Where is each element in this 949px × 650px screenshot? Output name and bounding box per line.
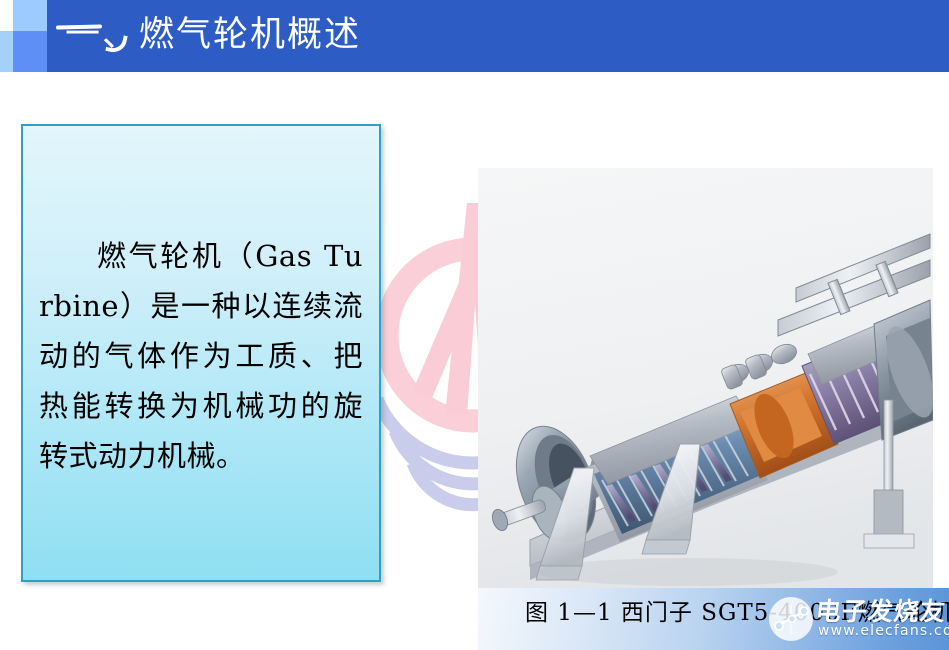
elecfans-circuit-logo-icon <box>768 596 814 642</box>
turbine-figure-image <box>478 168 933 588</box>
header-block-top-middle <box>13 0 47 31</box>
slide-header-band: 一、燃气轮机概述 <box>47 0 949 72</box>
header-block-top-left <box>0 0 13 31</box>
site-watermark: 电子发烧友 www.elecfans.com <box>768 590 948 650</box>
turbine-exhaust-diffuser <box>874 300 933 440</box>
page-title: 一、燃气轮机概述 <box>65 18 361 53</box>
watermark-url: www.elecfans.com <box>818 623 949 639</box>
header-block-bottom-middle <box>13 31 47 72</box>
callout-text: 燃气轮机（Gas Turbine）是一种以连续流动的气体作为工质、把热能转换为机… <box>39 232 363 481</box>
figure-caption-strip: 图 1—1 西门子 SGT5-4000F燃气轮机 电子发烧友 www.elecf… <box>478 588 949 650</box>
callout-box: 燃气轮机（Gas Turbine）是一种以连续流动的气体作为工质、把热能转换为机… <box>21 124 381 582</box>
header-block-bottom-left <box>0 31 13 72</box>
slide-canvas: 一、燃气轮机概述 燃气轮机（Gas Turbine）是一种以连续流动的气体作为工… <box>0 0 949 650</box>
